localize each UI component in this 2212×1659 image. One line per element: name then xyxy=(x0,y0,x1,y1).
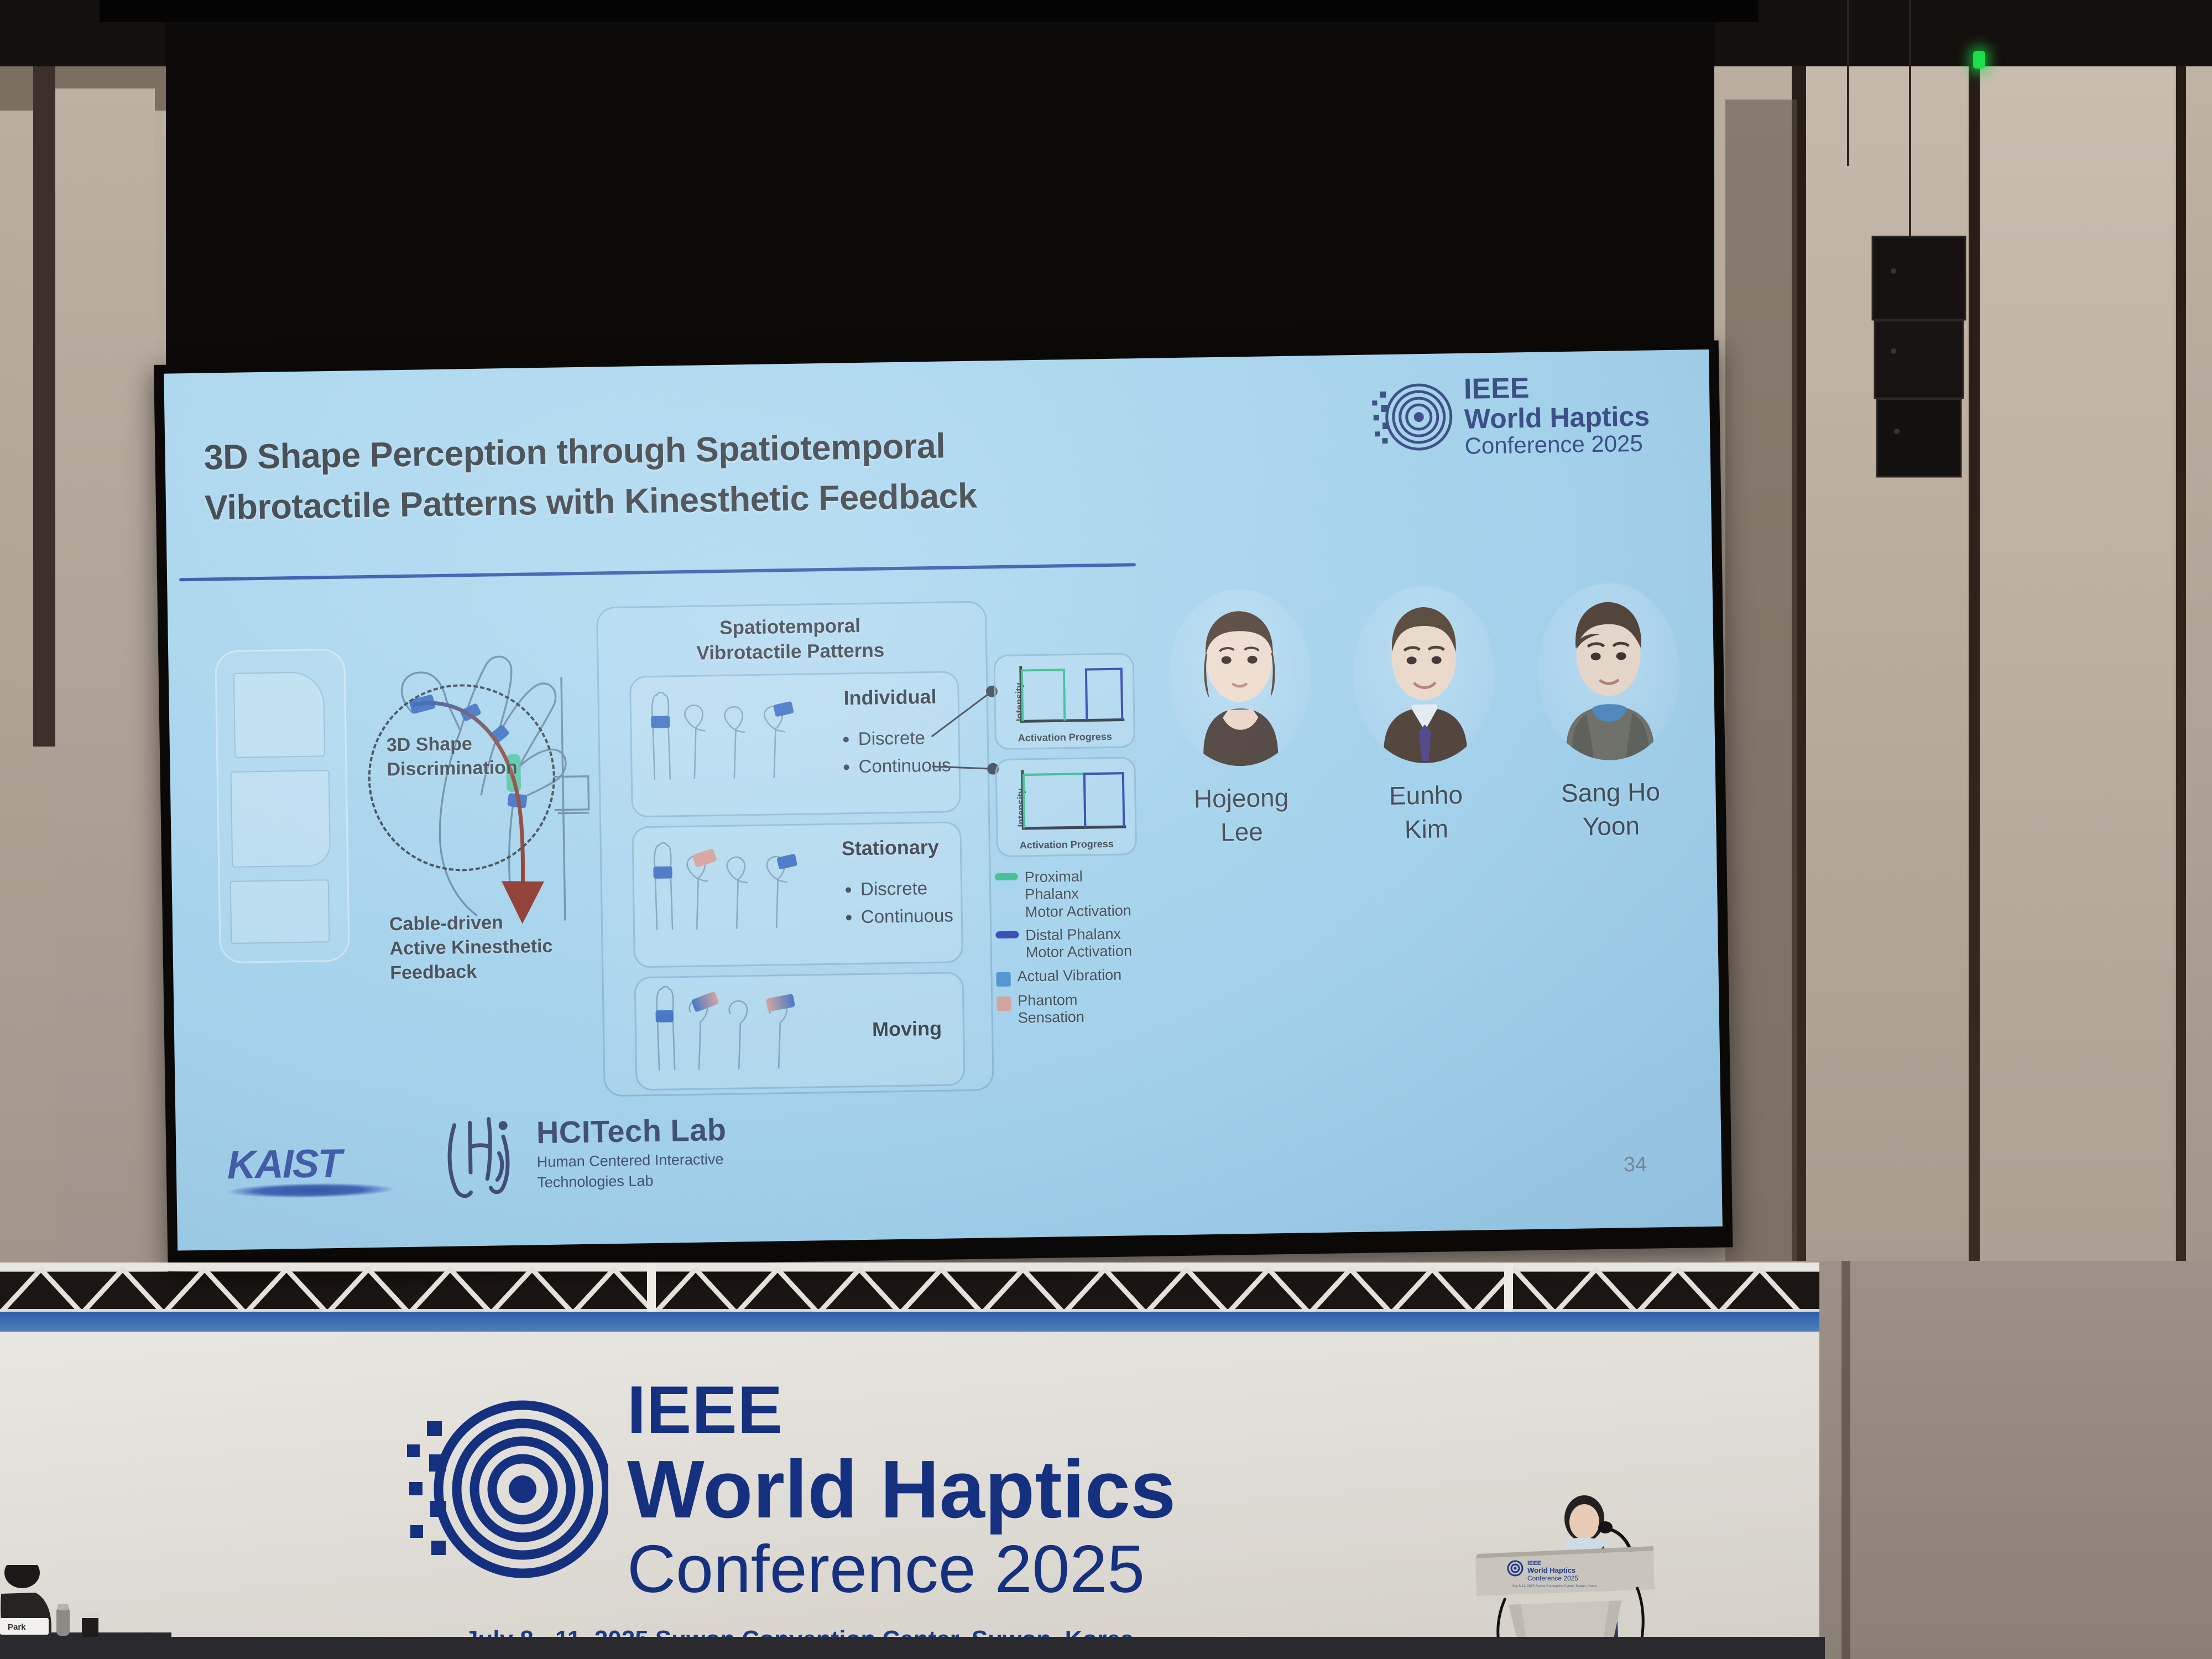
projection-screen: 3D Shape Perception through Spatiotempor… xyxy=(154,341,1733,1272)
hand-icon-row xyxy=(644,833,828,941)
legend-item: PhantomSensation xyxy=(997,990,1142,1027)
logo-line-world-haptics: World Haptics xyxy=(1464,401,1650,434)
conference-hall-photo: 3D Shape Perception through Spatiotempor… xyxy=(0,0,2212,1659)
speaker-suspension-wire xyxy=(1847,0,1849,166)
pattern-bullets-stationary: Discrete Continuous xyxy=(834,874,953,930)
logo-line-conference-2025: Conference 2025 xyxy=(1464,431,1650,458)
hand-icon-row xyxy=(642,682,826,790)
author-first-name: Hojeong xyxy=(1160,780,1322,816)
fingerprint-spiral-icon xyxy=(404,1387,608,1592)
author-list: Hojeong Lee xyxy=(1157,582,1696,1077)
hand-h-icon xyxy=(441,1105,525,1203)
line-array-speaker xyxy=(1869,232,1969,487)
diagram-legend: Proximal PhalanxMotor Activation Distal … xyxy=(995,867,1142,1033)
presentation-slide: 3D Shape Perception through Spatiotempor… xyxy=(164,349,1723,1251)
legend-item: Distal PhalanxMotor Activation xyxy=(995,925,1141,962)
chart-plot-area xyxy=(1018,662,1127,726)
wall-panel xyxy=(55,88,155,1261)
svg-text:July 8-11, 2025 Suwon Convent: July 8-11, 2025 Suwon Convention Center,… xyxy=(1512,1585,1597,1588)
banner-logo: IEEE World Haptics Conference 2025 xyxy=(404,1376,1176,1603)
legend-label-actual-vibration: Actual Vibration xyxy=(1017,966,1121,985)
author-name: Hojeong Lee xyxy=(1160,780,1323,850)
legend-item: Proximal PhalanxMotor Activation xyxy=(995,867,1140,921)
pattern-name-stationary: Stationary xyxy=(842,836,940,860)
svg-text:World Haptics: World Haptics xyxy=(1527,1566,1575,1574)
chart-discrete-activation: Intensity Activation Progress xyxy=(993,653,1135,750)
kaist-wordmark: KAIST xyxy=(227,1140,393,1188)
logo-line-ieee: IEEE xyxy=(1464,371,1650,404)
pattern-name-moving: Moving xyxy=(872,1017,942,1041)
lower-wall-left xyxy=(0,1637,1825,1659)
legend-swatch-phantom xyxy=(997,996,1011,1010)
screen-housing-top xyxy=(100,0,1759,22)
legend-swatch-distal xyxy=(995,931,1019,938)
hand-icon-row xyxy=(647,979,831,1087)
pattern-name-individual: Individual xyxy=(843,685,937,710)
conference-logo: IEEE World Haptics Conference 2025 xyxy=(1371,369,1682,462)
lab-subtitle-line-1: Human Centered Interactive xyxy=(536,1149,727,1172)
chart-plot-area xyxy=(1019,766,1129,833)
chair-nameplate-text: Park xyxy=(8,1623,26,1632)
wall-panel xyxy=(2187,0,2212,1261)
author-card: Hojeong Lee xyxy=(1157,588,1327,1077)
banner-line-ieee: IEEE xyxy=(627,1376,1176,1443)
device-segment xyxy=(233,671,325,758)
hcitech-lab-logo: HCITech Lab Human Centered Interactive T… xyxy=(441,1102,727,1203)
legend-label-proximal: Proximal PhalanxMotor Activation xyxy=(1025,867,1140,921)
svg-text:Conference 2025: Conference 2025 xyxy=(1527,1574,1578,1582)
label-cable-driven-feedback: Cable-drivenActive KinestheticFeedback xyxy=(389,910,554,985)
author-last-name: Yoon xyxy=(1530,808,1692,844)
device-segment xyxy=(231,770,331,868)
green-status-led xyxy=(1973,51,1985,69)
chart-continuous-activation: Intensity Activation Progress xyxy=(995,757,1137,857)
podium-with-speaker: IEEE World Haptics Conference 2025 July … xyxy=(1471,1493,1681,1659)
pattern-card-individual: Individual Discrete Continuous xyxy=(629,671,961,817)
wall-seam xyxy=(2176,0,2186,1261)
author-name: Eunho Kim xyxy=(1345,778,1507,847)
bullet-discrete: Discrete xyxy=(860,874,953,902)
author-last-name: Kim xyxy=(1345,811,1507,847)
author-first-name: Sang Ho xyxy=(1530,774,1692,810)
portrait-woman-icon xyxy=(1167,588,1311,767)
kaist-logo: KAIST xyxy=(227,1140,394,1199)
legend-swatch-actual-vibration xyxy=(996,972,1010,986)
author-card: Eunho Kim xyxy=(1342,585,1511,1074)
pattern-card-stationary: Stationary Discrete Continuous xyxy=(632,821,963,968)
title-divider-rule xyxy=(179,563,1136,581)
legend-swatch-proximal xyxy=(995,873,1018,881)
wall-seam xyxy=(1969,0,1980,1261)
lab-subtitle-line-2: Technologies Lab xyxy=(537,1169,727,1192)
author-last-name: Lee xyxy=(1161,814,1323,850)
wall-seam xyxy=(1841,1261,1850,1659)
device-segment xyxy=(230,879,330,944)
legend-label-phantom: PhantomSensation xyxy=(1018,991,1084,1027)
pattern-group-title: Spatiotemporal Vibrotactile Patterns xyxy=(596,612,984,667)
wall-recess xyxy=(1725,100,1797,1261)
author-card: Sang Ho Yoon xyxy=(1527,582,1696,1071)
chart-x-axis-label: Activation Progress xyxy=(997,731,1134,744)
portrait-man-suit-icon xyxy=(1352,585,1496,764)
portrait-man-sweater-icon xyxy=(1537,582,1681,761)
lower-wall xyxy=(1819,1261,2212,1659)
speaker-suspension-wire xyxy=(1909,0,1911,238)
bullet-continuous: Continuous xyxy=(860,901,953,930)
author-name: Sang Ho Yoon xyxy=(1530,774,1692,844)
fingerprint-spiral-icon xyxy=(1371,375,1455,459)
system-diagram: 3D ShapeDiscrimination Cable-drivenActiv… xyxy=(190,591,1138,1114)
chart-x-axis-label: Activation Progress xyxy=(998,838,1135,852)
label-3d-shape-discrimination: 3D ShapeDiscrimination xyxy=(387,731,518,782)
lab-name: HCITech Lab xyxy=(536,1112,727,1150)
legend-item: Actual Vibration xyxy=(996,966,1141,987)
wall-panel xyxy=(1980,0,2174,1261)
banner-line-conference-2025: Conference 2025 xyxy=(627,1535,1176,1603)
author-first-name: Eunho xyxy=(1345,778,1507,813)
wall-recess xyxy=(33,0,55,747)
wall-panel xyxy=(1806,0,1968,1261)
pattern-card-moving: Moving xyxy=(634,972,965,1091)
banner-line-world-haptics: World Haptics xyxy=(627,1449,1176,1531)
slide-title: 3D Shape Perception through Spatiotempor… xyxy=(204,419,1112,534)
slide-number: 34 xyxy=(1623,1153,1647,1177)
legend-label-distal: Distal PhalanxMotor Activation xyxy=(1025,925,1132,962)
